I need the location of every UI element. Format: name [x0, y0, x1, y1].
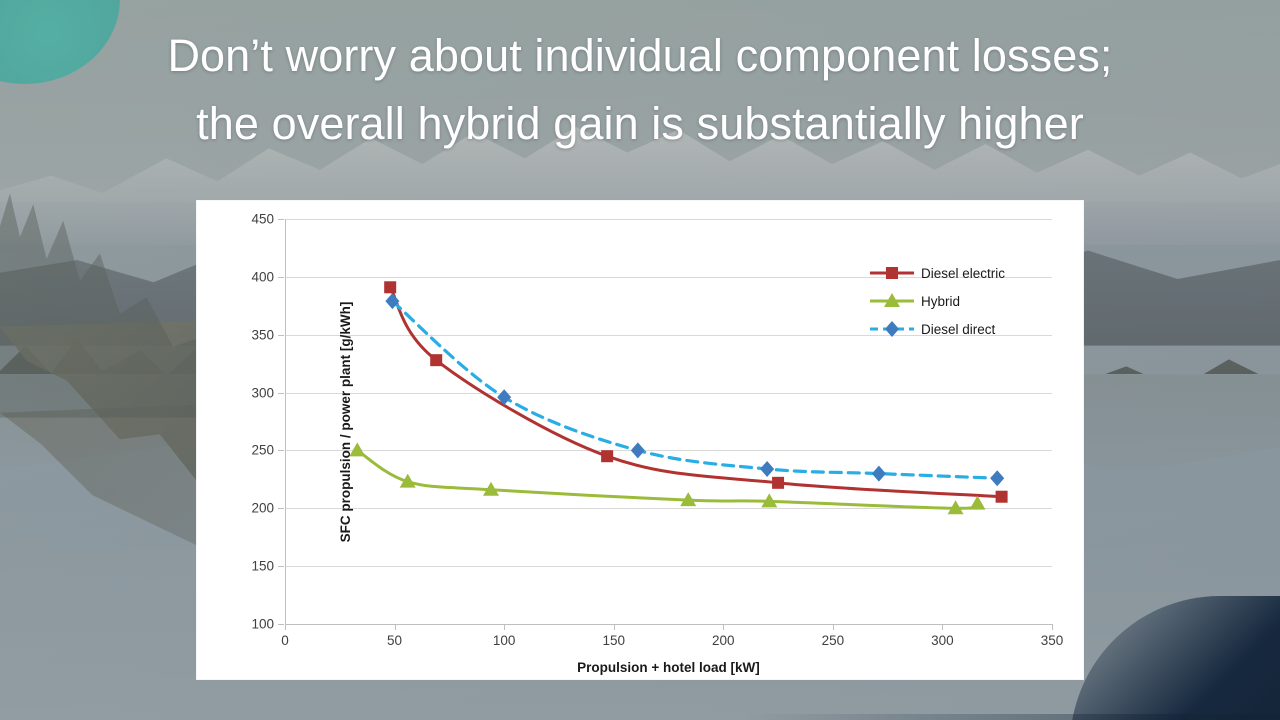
x-tick-300 [942, 624, 943, 630]
y-tick-label-350: 350 [251, 327, 274, 342]
x-tick-label-50: 50 [387, 633, 402, 648]
gridline-y-100 [285, 624, 1052, 625]
slide-canvas: Don’t worry about individual component l… [0, 0, 1280, 720]
y-tick-400 [278, 277, 284, 278]
x-axis-title: Propulsion + hotel load [kW] [285, 660, 1052, 675]
chart-panel: 100150200250300350400450 050100150200250… [197, 201, 1083, 679]
chart-legend: Diesel electricHybridDiesel direct [869, 259, 1069, 343]
legend-key-icon [869, 293, 915, 309]
y-tick-label-200: 200 [251, 501, 274, 516]
legend-item-diesel-electric[interactable]: Diesel electric [869, 259, 1069, 287]
x-tick-350 [1052, 624, 1053, 630]
legend-item-label: Hybrid [921, 294, 960, 309]
y-tick-250 [278, 450, 284, 451]
x-tick-50 [395, 624, 396, 630]
y-axis-title: SFC propulsion / power plant [g/kWh] [338, 301, 353, 542]
x-tick-label-350: 350 [1041, 633, 1064, 648]
y-tick-label-450: 450 [251, 212, 274, 227]
legend-key-icon [869, 321, 915, 337]
y-tick-200 [278, 508, 284, 509]
x-tick-label-150: 150 [602, 633, 625, 648]
legend-item-label: Diesel direct [921, 322, 995, 337]
series-hybrid [349, 442, 985, 514]
x-tick-0 [285, 624, 286, 630]
y-tick-label-100: 100 [251, 617, 274, 632]
navy-bottom-strip [0, 714, 1280, 720]
x-tick-label-250: 250 [822, 633, 845, 648]
y-tick-150 [278, 566, 284, 567]
y-tick-300 [278, 393, 284, 394]
y-tick-label-300: 300 [251, 385, 274, 400]
y-tick-label-150: 150 [251, 559, 274, 574]
y-tick-label-400: 400 [251, 269, 274, 284]
x-tick-label-0: 0 [281, 633, 289, 648]
y-tick-350 [278, 335, 284, 336]
x-tick-150 [614, 624, 615, 630]
y-tick-label-250: 250 [251, 443, 274, 458]
legend-item-hybrid[interactable]: Hybrid [869, 287, 1069, 315]
slide-title: Don’t worry about individual component l… [52, 22, 1228, 157]
y-tick-100 [278, 624, 284, 625]
legend-item-label: Diesel electric [921, 266, 1005, 281]
y-tick-450 [278, 219, 284, 220]
x-tick-100 [504, 624, 505, 630]
x-tick-label-200: 200 [712, 633, 735, 648]
x-tick-200 [723, 624, 724, 630]
x-tick-label-300: 300 [931, 633, 954, 648]
legend-item-diesel-direct[interactable]: Diesel direct [869, 315, 1069, 343]
x-tick-label-100: 100 [493, 633, 516, 648]
x-tick-250 [833, 624, 834, 630]
legend-key-icon [869, 265, 915, 281]
